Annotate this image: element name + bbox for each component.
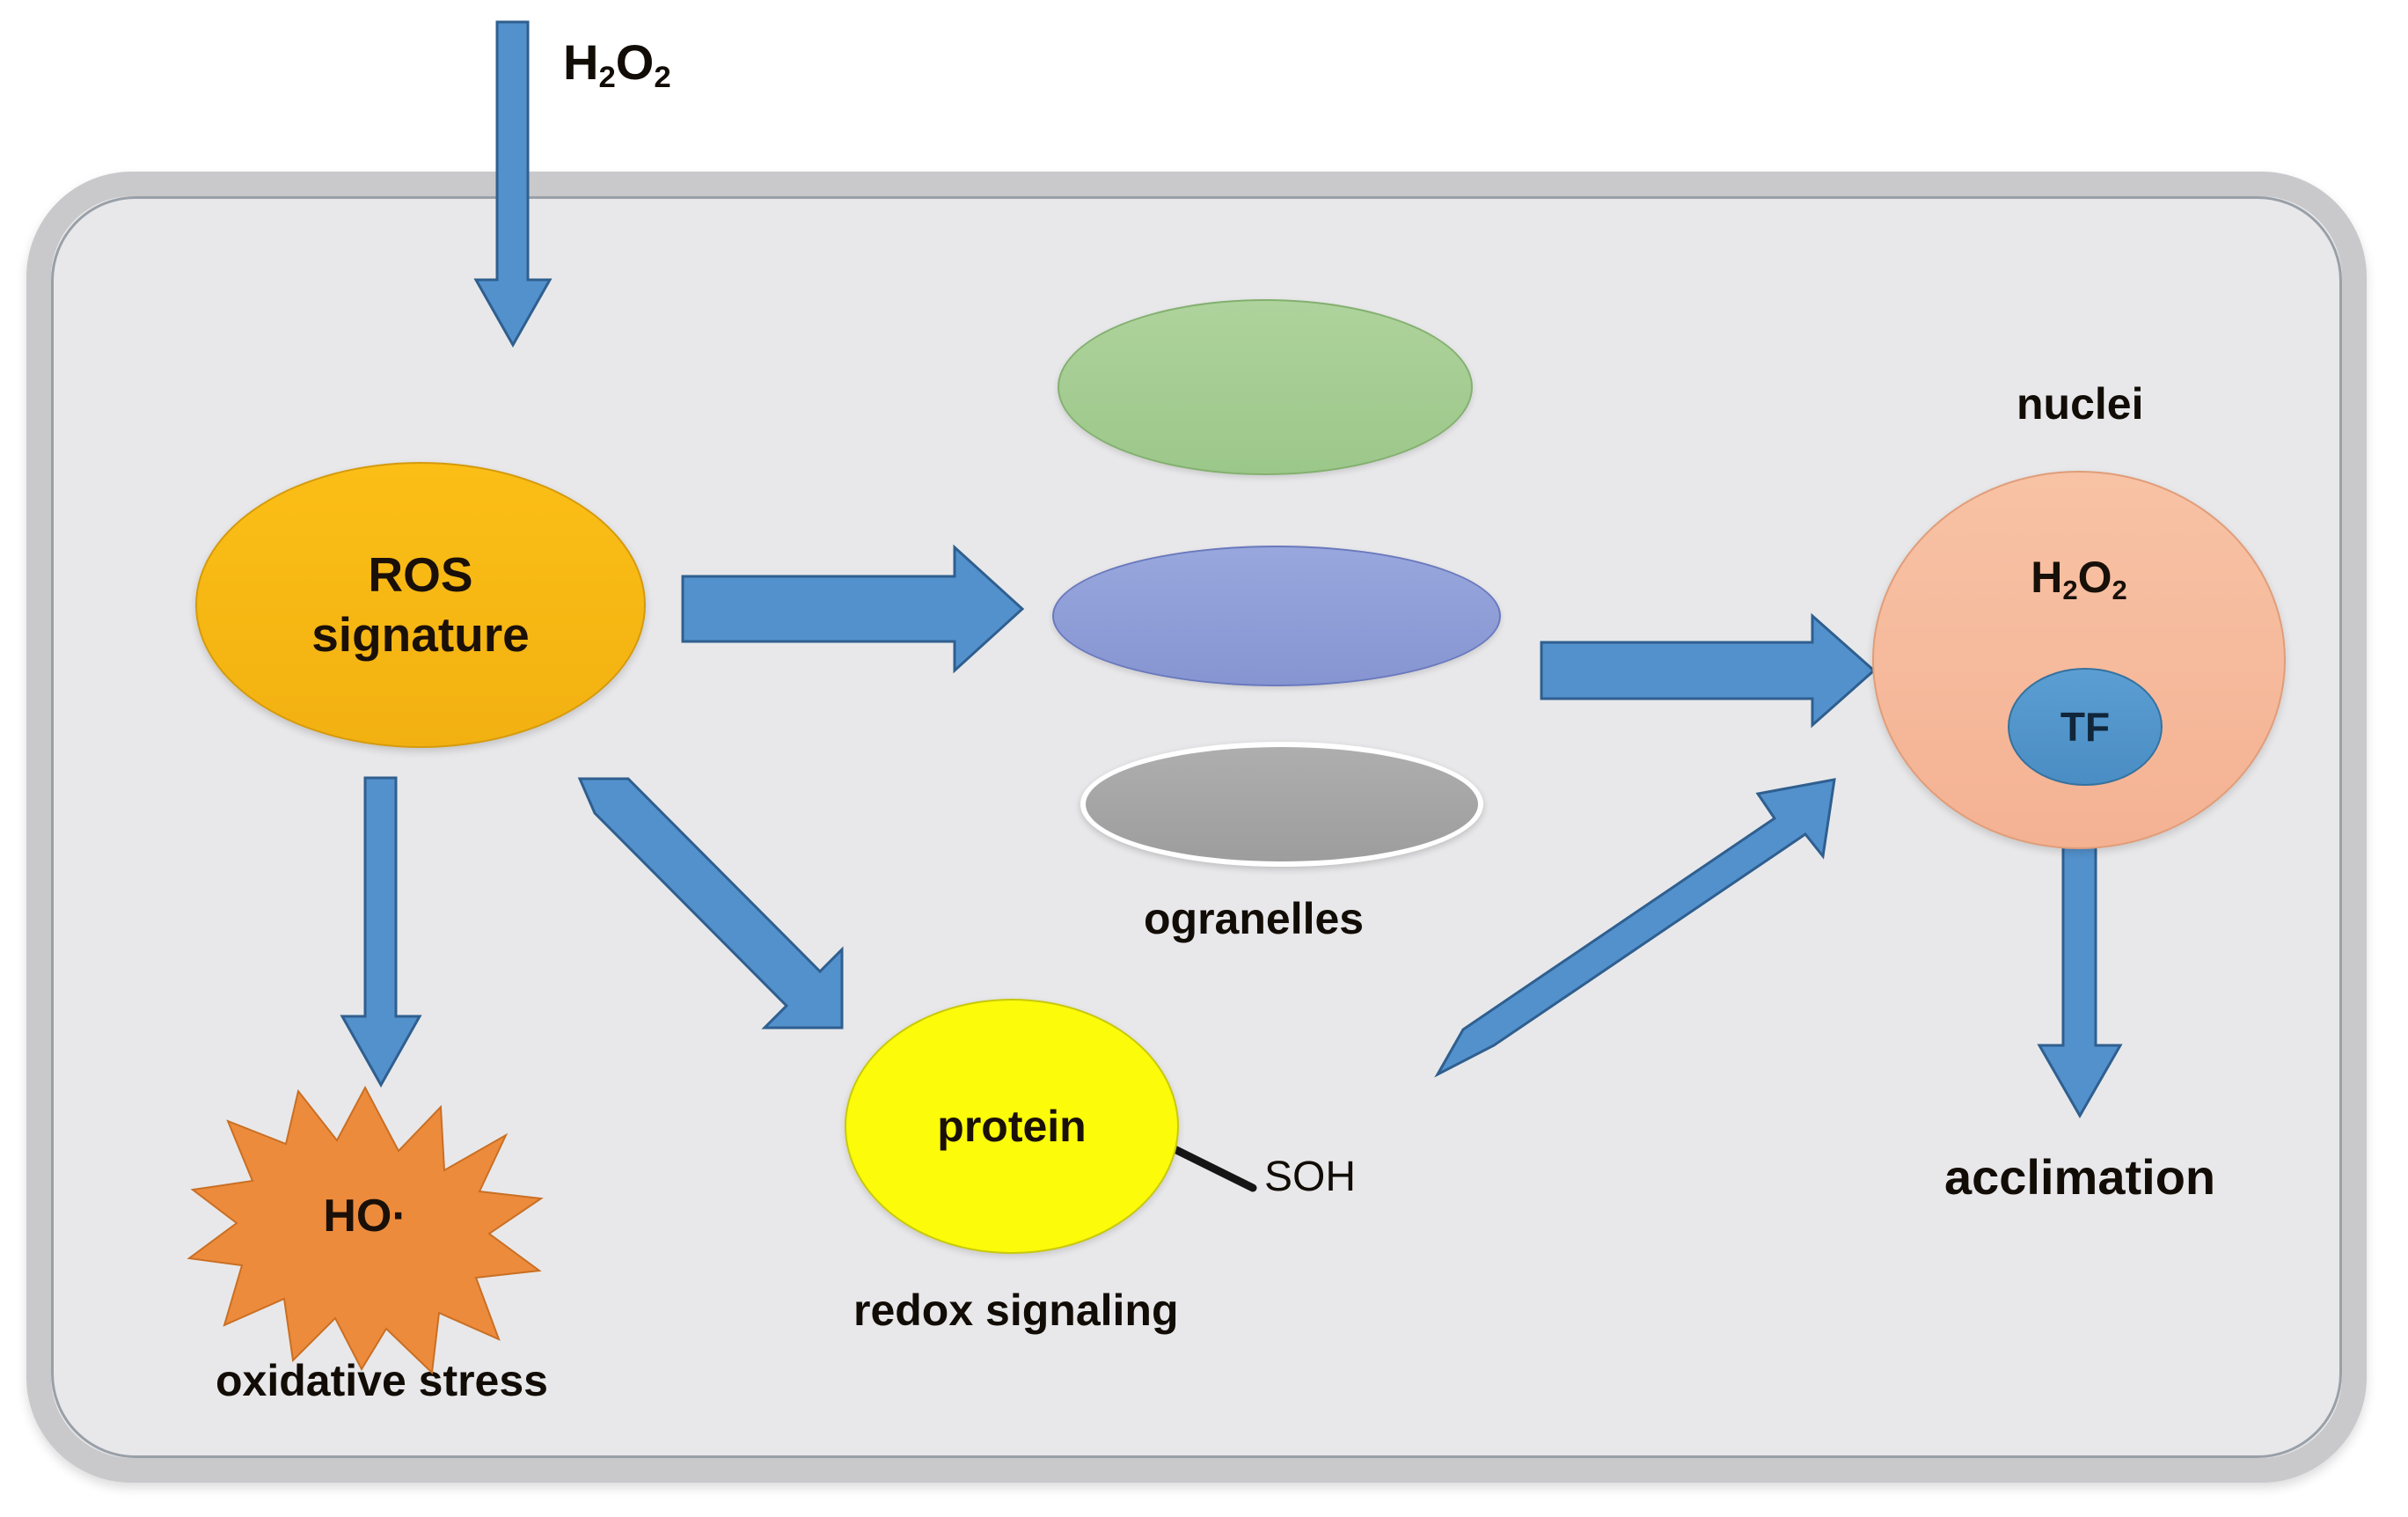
label-h2o2-input: H2O2 <box>563 33 671 91</box>
node-nucleus: H2O2 TF <box>1872 471 2286 849</box>
starburst-icon <box>189 1082 541 1373</box>
nucleus-h2o2-sub-2a: 2 <box>2062 575 2077 605</box>
h2o2-h: H <box>563 34 598 90</box>
nucleus-h2o2-h: H <box>2031 553 2062 602</box>
label-nuclei: nuclei <box>2016 378 2143 429</box>
protein-label: protein <box>937 1101 1086 1152</box>
ros-signature-line1: ROS <box>368 546 472 605</box>
nucleus-h2o2-o: O <box>2078 553 2112 602</box>
h2o2-sub-2b: 2 <box>654 61 670 94</box>
node-protein: protein <box>845 999 1179 1254</box>
label-soh: SOH <box>1264 1153 1356 1201</box>
tf-label: TF <box>2060 703 2110 751</box>
node-organelle-gray <box>1080 742 1483 867</box>
nucleus-h2o2-sub-2b: 2 <box>2112 575 2127 605</box>
node-hydroxyl-radical: HO· <box>189 1082 541 1373</box>
node-transcription-factor: TF <box>2008 668 2163 786</box>
diagram-canvas: H2O2 nuclei ogranelles SOH redox signali… <box>0 0 2408 1517</box>
label-acclimation: acclimation <box>1944 1148 2215 1206</box>
label-redox-signaling: redox signaling <box>853 1285 1179 1336</box>
label-organelles: ogranelles <box>1144 893 1364 944</box>
nucleus-h2o2-label: H2O2 <box>1874 552 2284 603</box>
node-organelle-green <box>1058 299 1473 475</box>
node-ros-signature: ROS signature <box>195 462 646 748</box>
node-organelle-blue <box>1052 546 1501 686</box>
h2o2-sub-2a: 2 <box>598 61 615 94</box>
h2o2-o: O <box>616 34 655 90</box>
ros-signature-line2: signature <box>311 605 530 664</box>
